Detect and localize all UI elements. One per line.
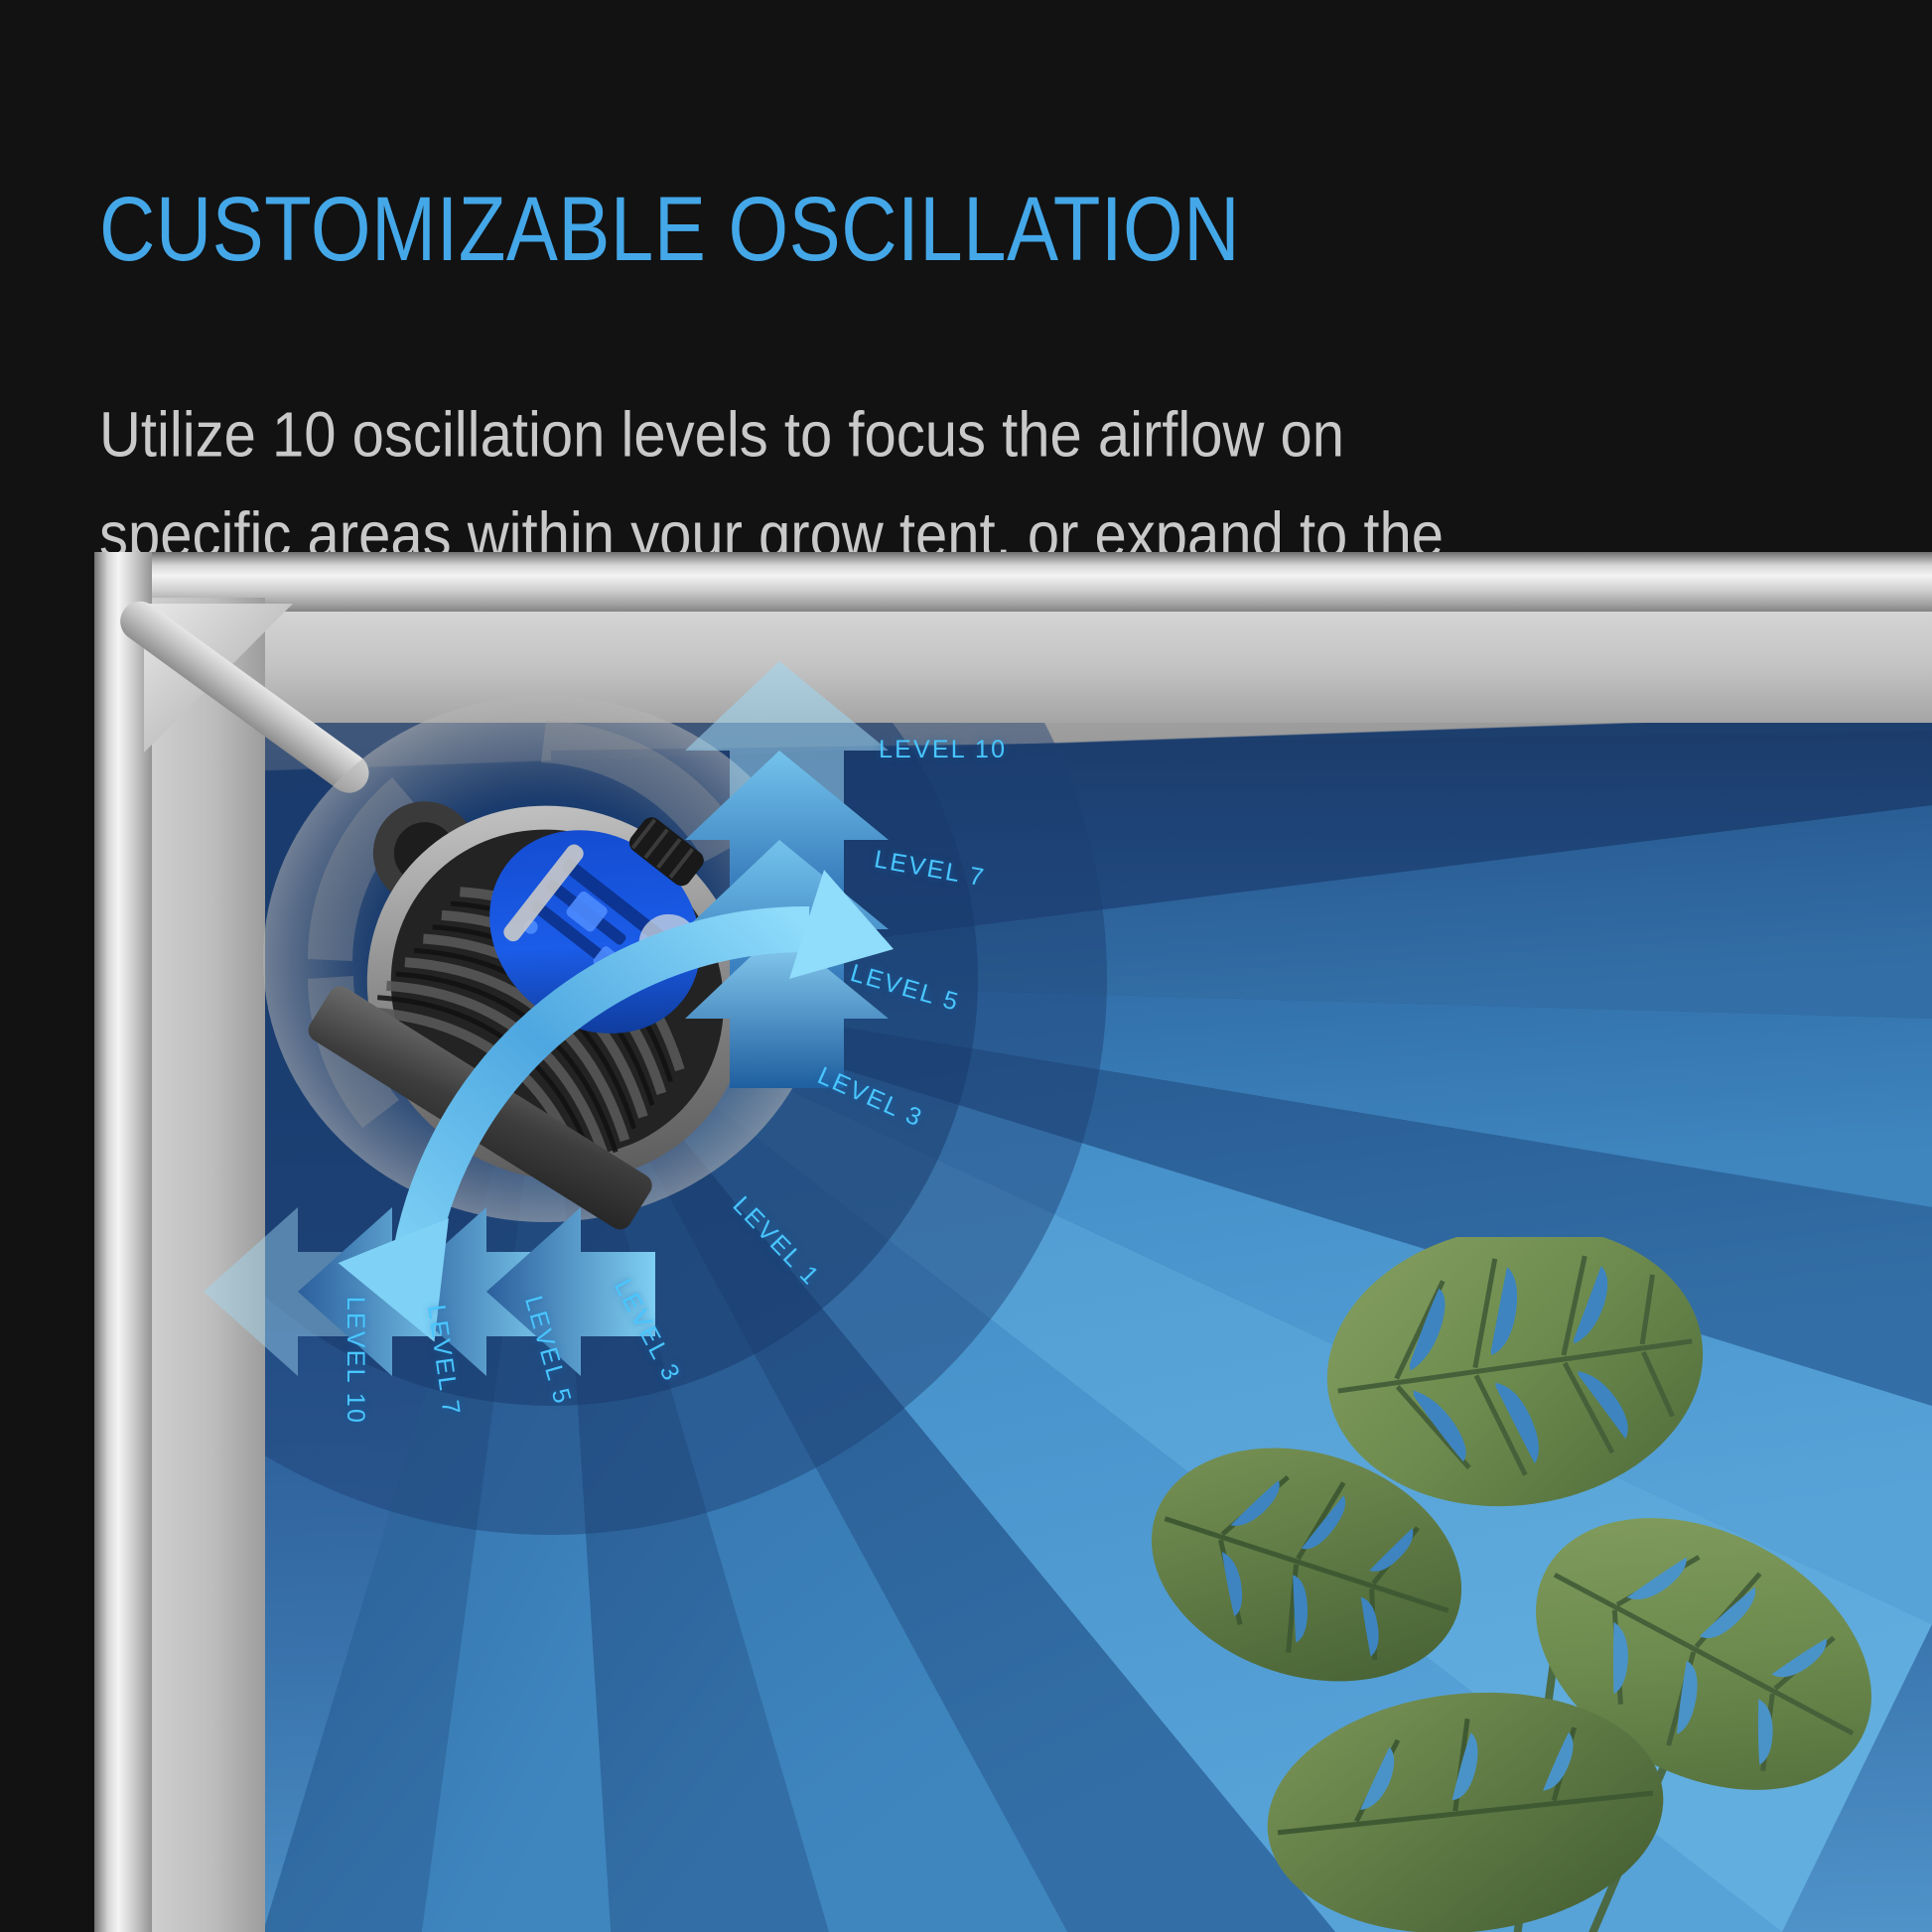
airflow-arrows [94,552,1932,1932]
page-title: CUSTOMIZABLE OSCILLATION [99,176,1240,282]
product-feature-card: CUSTOMIZABLE OSCILLATION Utilize 10 osci… [0,0,1932,1932]
arrow-up-stack-icon [685,661,889,1088]
level-label-bottom-10: LEVEL 10 [341,1297,369,1425]
grow-tent-scene: LEVEL 10 LEVEL 7 LEVEL 5 LEVEL 3 LEVEL 1… [94,552,1932,1932]
level-label-right-10: LEVEL 10 [879,736,1007,764]
